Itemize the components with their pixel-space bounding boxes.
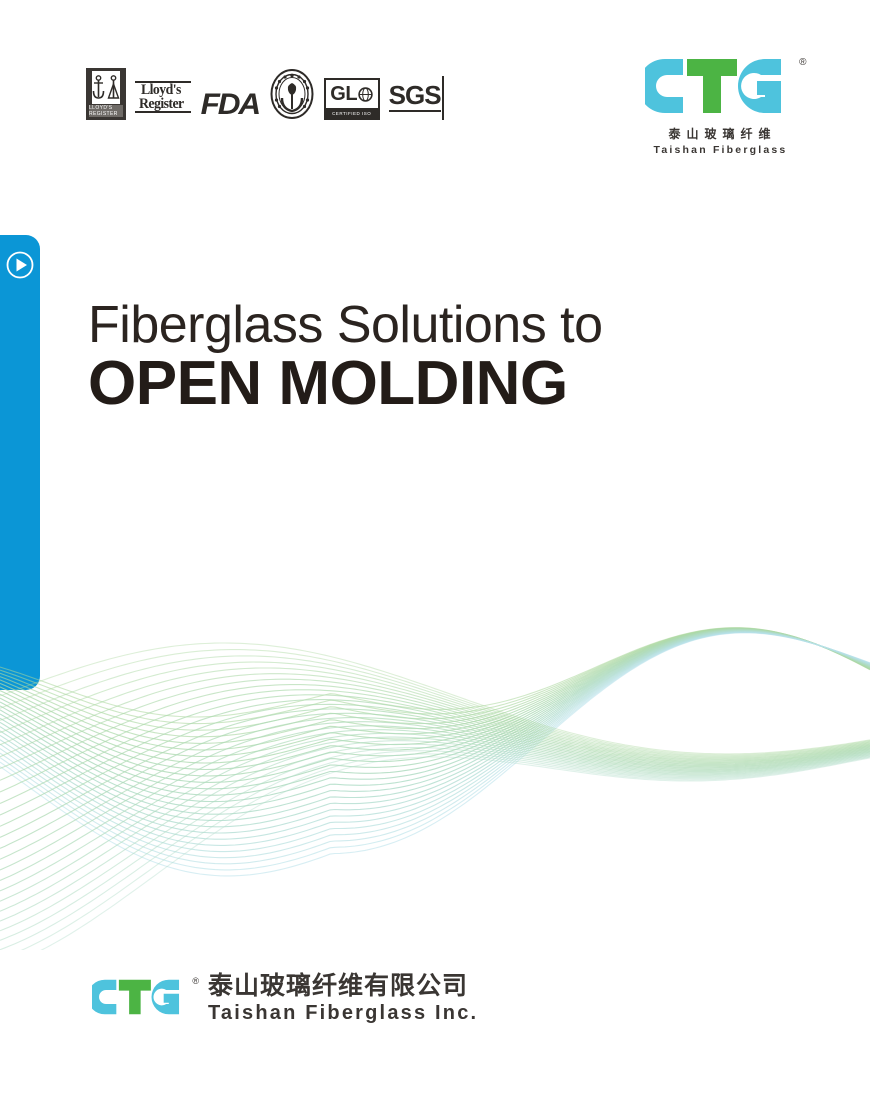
lloyds-register-wordmark-icon: Lloyd's Register [135, 74, 191, 120]
lr-word-line2: Register [139, 97, 184, 111]
lr-shield-caption: LLOYD'S REGISTER [89, 105, 123, 117]
play-circle-icon [5, 250, 35, 280]
cover-title-block: Fiberglass Solutions to OPEN MOLDING [88, 297, 788, 417]
document-cover-page: LLOYD'S REGISTER Lloyd's Register FDA [0, 0, 870, 1120]
gl-caption: CERTIFIED ISO [326, 108, 378, 118]
lr-shield-emblem [92, 71, 120, 104]
anchor-glyph [92, 75, 105, 101]
header-logo-chinese: 泰山玻璃纤维 [637, 125, 802, 142]
lr-caption-text: LLOYD'S REGISTER [89, 105, 123, 117]
gl-logo-icon: GL CERTIFIED ISO [324, 78, 380, 120]
decorative-wave-ribbon [0, 560, 870, 950]
registered-trademark-icon: ® [799, 57, 806, 68]
lloyds-register-shield-icon: LLOYD'S REGISTER [86, 68, 126, 120]
registered-trademark-icon-footer: ® [192, 976, 199, 986]
fda-logo-icon: FDA [199, 90, 262, 120]
header-logo-english: Taishan Fiberglass [637, 144, 802, 156]
sgs-logo-icon: SGS [389, 74, 444, 120]
ctg-logo-mark: ® [645, 55, 795, 122]
gl-globe-glyph [358, 87, 373, 102]
footer-brand-logo: ® 泰山玻璃纤维有限公司 Taishan Fiberglass Inc. [92, 972, 478, 1025]
dnv-seal-glyph [269, 68, 315, 120]
lr-word-line1: Lloyd's [141, 83, 181, 97]
sgs-wordmark: SGS [389, 82, 441, 108]
footer-company-name: 泰山玻璃纤维有限公司 Taishan Fiberglass Inc. [208, 972, 478, 1025]
certification-logo-strip: LLOYD'S REGISTER Lloyd's Register FDA [86, 66, 444, 120]
ctg-logo-mark-footer: ® [92, 976, 188, 1023]
scales-glyph [107, 75, 120, 101]
page-title-line-1: Fiberglass Solutions to [88, 297, 788, 353]
gl-letters: GL [330, 84, 357, 104]
dnv-seal-logo-icon [269, 68, 315, 120]
footer-name-chinese: 泰山玻璃纤维有限公司 [208, 972, 478, 1000]
footer-name-english: Taishan Fiberglass Inc. [208, 1001, 478, 1025]
page-title-line-2: OPEN MOLDING [88, 351, 788, 417]
blue-side-tab [0, 235, 40, 690]
ctg-letters-glyph-footer [92, 976, 188, 1018]
gl-mark: GL [326, 80, 378, 108]
ctg-letters-glyph [645, 55, 795, 117]
sgs-rule [389, 110, 441, 113]
header-brand-logo: ® 泰山玻璃纤维 Taishan Fiberglass [637, 55, 802, 156]
sgs-vertical-bar [442, 76, 444, 120]
